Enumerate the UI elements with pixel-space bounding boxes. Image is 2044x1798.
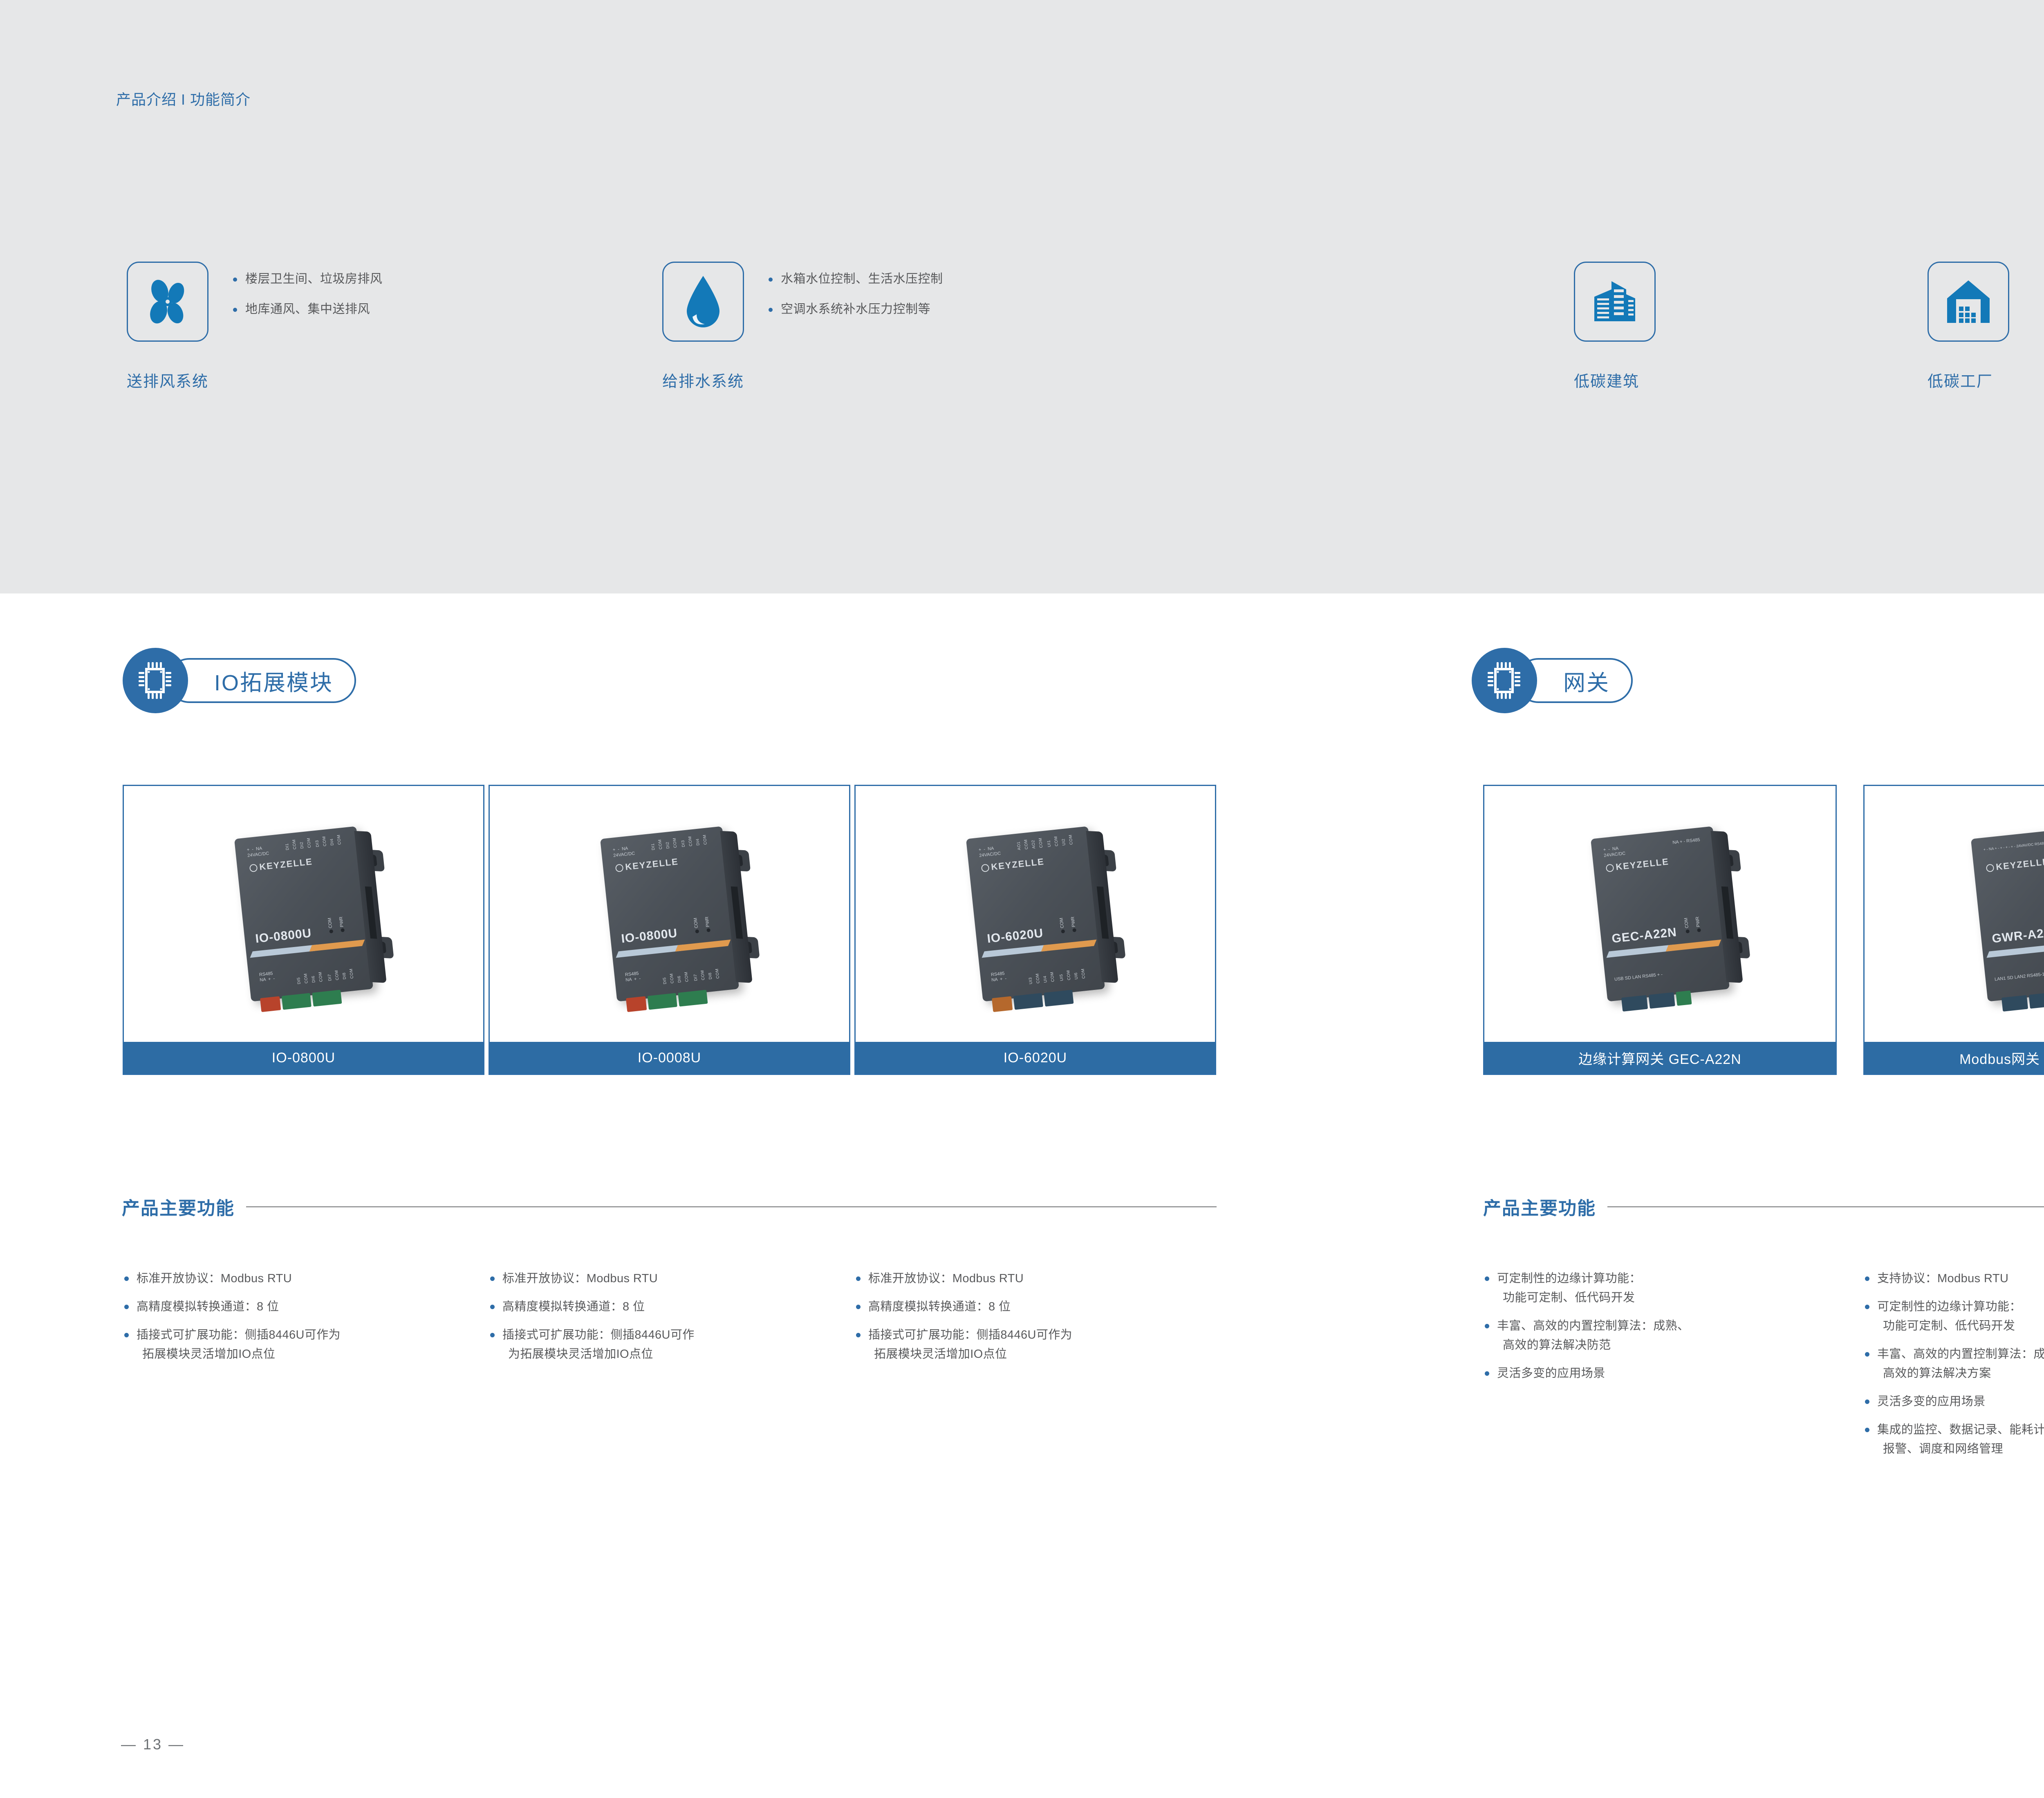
brand-logo: KEYZELLE — [615, 856, 679, 873]
scenario-tile — [1574, 262, 1656, 342]
product-card[interactable]: + - NA 24VAC/DC NA + - RS485 KEYZELLE CO… — [1483, 785, 1837, 1075]
running-head-left: 产品介绍 I 功能简介 — [116, 88, 251, 109]
device-model-label: GWR-A25N — [1991, 925, 2044, 946]
product-name-label: IO-0800U — [124, 1042, 483, 1074]
feature-list: 支持协议：Modbus RTU 可定制性的边缘计算功能： 功能可定制、低代码开发… — [1863, 1269, 2044, 1468]
brand-logo: KEYZELLE — [981, 856, 1045, 873]
product-card[interactable]: + - NA 24VAC/DC DI1COM DI2COM DI3COM DI4… — [489, 785, 850, 1075]
product-image: + - NA 24VAC/DC AO1COM AO2COM UI1COM UI2… — [856, 786, 1215, 1042]
feature-list: 标准开放协议：Modbus RTU 高精度模拟转换通道：8 位 插接式可扩展功能… — [489, 1269, 840, 1373]
list-item: 楼层卫生间、垃圾房排风 — [231, 273, 383, 285]
section-title: IO拓展模块 — [214, 665, 333, 697]
features-heading-right: 产品主要功能 — [1483, 1193, 2044, 1220]
section-header-gateway: 网关 — [1472, 648, 1701, 713]
brand-logo: KEYZELLE — [1986, 856, 2044, 873]
scenario-bullet-list: 楼层卫生间、垃圾房排风 地库通风、集中送排风 — [231, 262, 383, 334]
page-number-left: — 13 — — [121, 1736, 185, 1753]
features-heading-left: 产品主要功能 — [122, 1193, 1217, 1220]
scenario-caption: 低碳工厂 — [1927, 369, 1993, 391]
list-item: 高精度模拟转换通道：8 位 — [123, 1297, 474, 1317]
scenario-block-fan: 楼层卫生间、垃圾房排风 地库通风、集中送排风 送排风系统 — [127, 262, 383, 342]
product-image: + - NA 24VAC/DC NA + - RS485 KEYZELLE CO… — [1484, 786, 1836, 1042]
water-drop-icon — [684, 275, 722, 328]
list-item: 高精度模拟转换通道：8 位 — [489, 1297, 840, 1317]
section-title: 网关 — [1563, 665, 1610, 697]
product-name-label: Modbus网关 GWR-A25N — [1865, 1042, 2044, 1074]
product-card[interactable]: + - NA + - + - + - + - 2AVAV/DC RS485-2 … — [1863, 785, 2044, 1075]
list-item: 插接式可扩展功能：侧插8446U可作 为拓展模块灵活增加IO点位 — [489, 1326, 840, 1364]
list-item: 标准开放协议：Modbus RTU — [123, 1269, 474, 1288]
list-item: 集成的监控、数据记录、能耗计量、 报警、调度和网络管理 — [1863, 1420, 2044, 1459]
list-item: 地库通风、集中送排风 — [231, 303, 383, 316]
scenario-block-factory: 低碳工厂 — [1927, 262, 2009, 342]
brochure-spread: 产品介绍 I 功能简介 产品介绍 I 功能简介 楼层卫生间、垃圾房排风 — [0, 0, 2044, 1798]
scenario-tile — [127, 262, 208, 342]
section-header-io-modules: IO拓展模块 — [123, 648, 433, 713]
microchip-icon — [1472, 648, 1537, 713]
list-item: 标准开放协议：Modbus RTU — [854, 1269, 1206, 1288]
list-item: 空调水系统补水压力控制等 — [767, 303, 943, 316]
list-item: 可定制性的边缘计算功能： 功能可定制、低代码开发 — [1863, 1297, 2044, 1336]
fan-icon — [143, 276, 192, 327]
device-illustration: + - NA 24VAC/DC AO1COM AO2COM UI1COM UI2… — [966, 826, 1105, 1001]
device-illustration: + - NA 24VAC/DC DI1COM DI2COM DI3COM DI4… — [234, 826, 373, 1001]
feature-list: 标准开放协议：Modbus RTU 高精度模拟转换通道：8 位 插接式可扩展功能… — [854, 1269, 1206, 1373]
section-pill: IO拓展模块 — [167, 658, 356, 703]
scenario-block-building: 低碳建筑 — [1574, 262, 1656, 342]
scenario-tile — [662, 262, 744, 342]
product-card[interactable]: + - NA 24VAC/DC DI1COM DI2COM DI3COM DI4… — [123, 785, 484, 1075]
device-illustration: + - NA 24VAC/DC NA + - RS485 KEYZELLE CO… — [1590, 826, 1729, 1001]
scenario-caption: 送排风系统 — [127, 369, 208, 391]
brand-logo: KEYZELLE — [1605, 856, 1670, 873]
scenario-block-water: 水箱水位控制、生活水压控制 空调水系统补水压力控制等 给排水系统 — [662, 262, 943, 342]
device-illustration: + - NA + - + - + - + - 2AVAV/DC RS485-2 … — [1970, 826, 2044, 1001]
list-item: 丰富、高效的内置控制算法：成熟、 高效的算法解决方案 — [1863, 1345, 2044, 1383]
device-model-label: IO-6020U — [986, 926, 1044, 946]
microchip-icon — [123, 648, 188, 713]
divider — [246, 1206, 1217, 1207]
list-item: 插接式可扩展功能：侧插8446U可作为 拓展模块灵活增加IO点位 — [854, 1326, 1206, 1364]
scenario-bullet-list: 水箱水位控制、生活水压控制 空调水系统补水压力控制等 — [767, 262, 943, 334]
list-item: 标准开放协议：Modbus RTU — [489, 1269, 840, 1288]
device-model-label: GEC-A22N — [1611, 925, 1677, 946]
list-item: 支持协议：Modbus RTU — [1863, 1269, 2044, 1288]
product-card[interactable]: + - NA 24VAC/DC AO1COM AO2COM UI1COM UI2… — [854, 785, 1216, 1075]
feature-list: 标准开放协议：Modbus RTU 高精度模拟转换通道：8 位 插接式可扩展功能… — [123, 1269, 474, 1373]
device-model-label: IO-0800U — [621, 926, 678, 946]
list-item: 灵活多变的应用场景 — [1863, 1392, 2044, 1411]
divider — [1607, 1206, 2044, 1207]
features-title: 产品主要功能 — [1483, 1193, 1596, 1220]
product-image: + - NA 24VAC/DC DI1COM DI2COM DI3COM DI4… — [490, 786, 849, 1042]
device-model-label: IO-0800U — [255, 926, 312, 946]
features-title: 产品主要功能 — [122, 1193, 235, 1220]
list-item: 灵活多变的应用场景 — [1483, 1364, 1827, 1383]
scenario-tile — [1927, 262, 2009, 342]
office-building-icon — [1590, 277, 1639, 326]
scenario-caption: 给排水系统 — [662, 369, 744, 391]
factory-icon — [1944, 277, 1993, 326]
list-item: 插接式可扩展功能：侧插8446U可作为 拓展模块灵活增加IO点位 — [123, 1326, 474, 1364]
product-name-label: 边缘计算网关 GEC-A22N — [1484, 1042, 1836, 1074]
list-item: 高精度模拟转换通道：8 位 — [854, 1297, 1206, 1317]
device-power-label: + - NA 24VAC/DC — [247, 845, 269, 859]
scenario-caption: 低碳建筑 — [1574, 369, 1639, 391]
list-item: 可定制性的边缘计算功能： 功能可定制、低代码开发 — [1483, 1269, 1827, 1308]
product-name-label: IO-6020U — [856, 1042, 1215, 1074]
list-item: 水箱水位控制、生活水压控制 — [767, 273, 943, 285]
product-image: + - NA + - + - + - + - 2AVAV/DC RS485-2 … — [1865, 786, 2044, 1042]
brand-logo: KEYZELLE — [249, 856, 313, 873]
device-illustration: + - NA 24VAC/DC DI1COM DI2COM DI3COM DI4… — [600, 826, 739, 1001]
product-name-label: IO-0008U — [490, 1042, 849, 1074]
feature-list: 可定制性的边缘计算功能： 功能可定制、低代码开发 丰富、高效的内置控制算法：成熟… — [1483, 1269, 1827, 1392]
list-item: 丰富、高效的内置控制算法：成熟、 高效的算法解决防范 — [1483, 1317, 1827, 1355]
product-image: + - NA 24VAC/DC DI1COM DI2COM DI3COM DI4… — [124, 786, 483, 1042]
